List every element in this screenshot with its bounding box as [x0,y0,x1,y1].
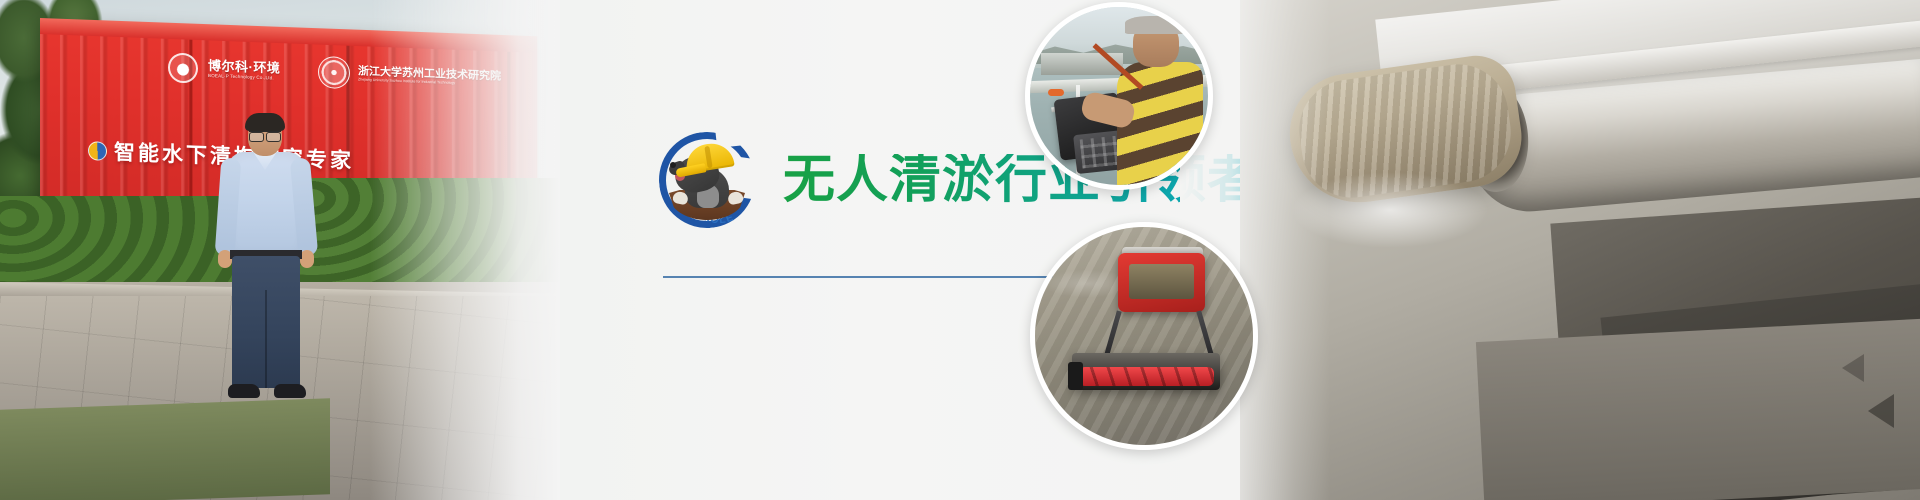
container-brand-en: BOEAL·P Technology Co.,Ltd. [208,74,280,82]
mud-mole-logo: MUD MOLE [655,128,759,232]
glasses-icon [249,131,281,140]
robot-auger [1079,367,1214,387]
container-brand-text: 博尔科·环境 BOEAL·P Technology Co.,Ltd. [208,59,280,81]
person-shoe-right [274,384,306,398]
tank-wall [1476,318,1920,500]
university-seal-icon [318,56,350,89]
person-shoe-left [228,384,260,398]
person-hair [245,113,285,131]
arrow-accent-2-icon [1842,354,1864,382]
operator-person [1115,14,1213,190]
right-photo-group [1180,0,1920,500]
dredging-robot-circle-photo [1030,222,1258,450]
arrow-accent-1-icon [1868,394,1894,428]
left-photo-fade [370,0,560,500]
hero-banner: 博尔科·环境 BOEAL·P Technology Co.,Ltd. 浙江大学苏… [0,0,1920,500]
left-photo: 博尔科·环境 BOEAL·P Technology Co.,Ltd. 浙江大学苏… [0,0,560,500]
person-trousers [232,256,300,388]
slogan-badge-icon [88,141,107,161]
person-hand-right [300,250,314,268]
logo-mole-nose [670,162,676,168]
engineer-person [212,116,320,416]
operator-console-circle-photo [1025,2,1213,190]
brand-mark-icon [168,52,198,83]
